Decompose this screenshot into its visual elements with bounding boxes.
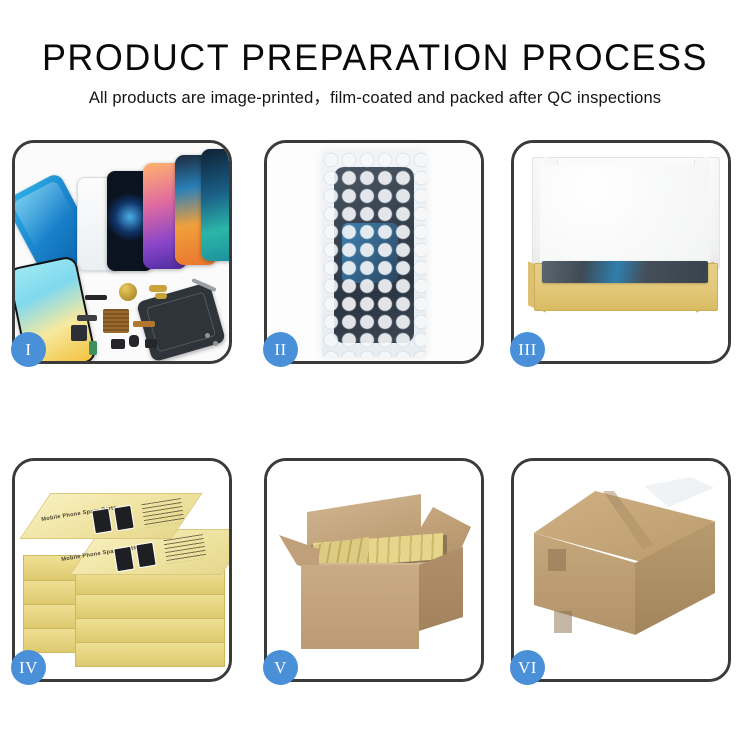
box-print-image-front-1 [113, 546, 135, 573]
step-numeral-5: V [274, 659, 287, 676]
box-print-image-front-2 [135, 542, 157, 569]
flex-cable-2-icon [155, 293, 167, 299]
coil-part-icon [119, 283, 137, 301]
inner-box-image [514, 143, 728, 361]
process-row-2: Mobile Phone Spare Parts Mobile Phone Sp… [12, 458, 740, 688]
step-numeral-1: I [25, 341, 31, 358]
bubble-highlight-layer [322, 151, 426, 357]
page-subtitle: All products are image-printed，film-coat… [0, 80, 750, 109]
step-badge-4: IV [11, 650, 46, 685]
connector-part-icon [77, 315, 97, 321]
stacked-box-right-2 [75, 617, 225, 643]
bubble-wrap-bag-icon [322, 151, 426, 357]
process-steps-grid: I II [12, 140, 740, 750]
sensor-part-icon [145, 339, 157, 348]
step-numeral-3: III [518, 341, 536, 358]
step-panel-5[interactable]: V [264, 458, 484, 682]
step-panel-6[interactable]: VI [511, 458, 731, 682]
carton-wrap-film-icon [636, 477, 714, 507]
step-panel-3[interactable]: III [511, 140, 731, 364]
product-preparation-process-page: PRODUCT PREPARATION PROCESS All products… [0, 0, 750, 750]
step-panel-2[interactable]: II [264, 140, 484, 364]
bubble-wrap-image [267, 143, 481, 361]
flex-cable-icon [149, 285, 167, 292]
screw-part-icon [205, 333, 210, 338]
step-badge-2: II [263, 332, 298, 367]
stacked-box-bottom-right [75, 641, 225, 667]
teal-phone-icon [201, 149, 229, 261]
process-row-1: I II [12, 140, 740, 370]
step-panel-1[interactable]: I [12, 140, 232, 364]
step-badge-5: V [263, 650, 298, 685]
box-stack-icon: Mobile Phone Spare Parts Mobile Phone Sp… [19, 485, 229, 675]
carton-tab-lower-icon [554, 611, 572, 633]
step-badge-1: I [11, 332, 46, 367]
step-badge-6: VI [510, 650, 545, 685]
bracket-part-icon [71, 325, 87, 341]
step-panel-4[interactable]: Mobile Phone Spare Parts Mobile Phone Sp… [12, 458, 232, 682]
step-numeral-4: IV [19, 659, 38, 676]
carton-filling-image [267, 461, 481, 679]
step-badge-3: III [510, 332, 545, 367]
ribbon-part-icon [133, 321, 155, 327]
camera-part-icon [111, 339, 125, 349]
sealed-carton-image [514, 461, 728, 679]
foam-sheet-icon [540, 165, 710, 261]
battery-part-icon [89, 341, 97, 355]
step-numeral-2: II [274, 341, 286, 358]
box-print-image-back-1 [91, 508, 113, 535]
page-header: PRODUCT PREPARATION PROCESS All products… [0, 0, 750, 109]
box-stack-image: Mobile Phone Spare Parts Mobile Phone Sp… [15, 461, 229, 679]
speaker-part-icon [85, 295, 107, 300]
page-title: PRODUCT PREPARATION PROCESS [11, 0, 739, 80]
carton-front-face-icon [301, 565, 419, 649]
phone-parts-image [15, 143, 229, 361]
stacked-box-right-3 [75, 593, 225, 619]
screw-part-2-icon [213, 341, 218, 346]
button-part-icon [129, 335, 139, 347]
step-numeral-6: VI [518, 659, 537, 676]
carton-tab-upper-icon [548, 549, 566, 571]
box-print-image-back-2 [113, 505, 135, 532]
chip-grid-icon [103, 309, 129, 333]
packed-parts-row-icon [542, 261, 708, 283]
